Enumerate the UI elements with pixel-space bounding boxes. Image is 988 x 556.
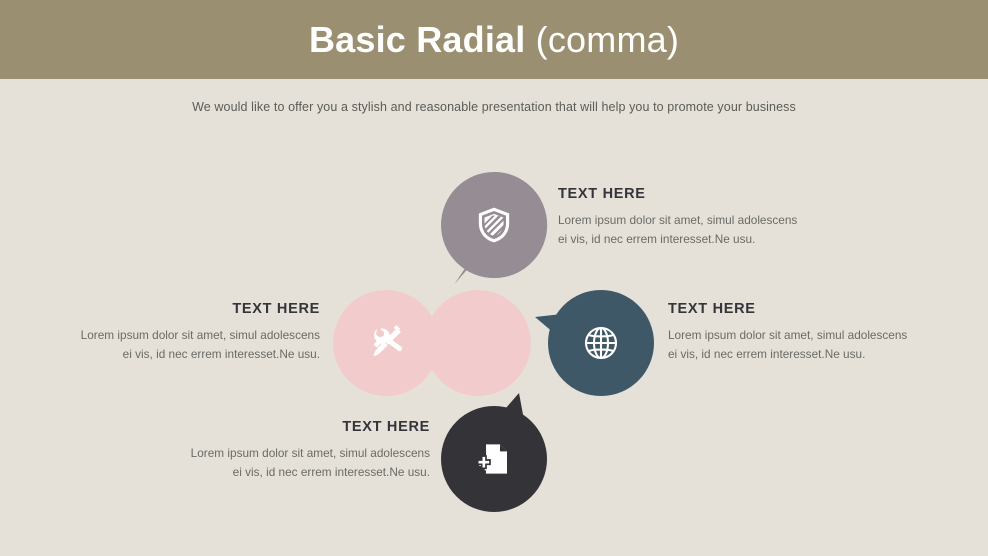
node-left-heading: TEXT HERE — [80, 301, 320, 317]
bubble-bottom[interactable] — [441, 406, 547, 512]
node-top-body: Lorem ipsum dolor sit amet, simul adoles… — [558, 211, 808, 249]
bubble-top[interactable] — [441, 172, 547, 278]
node-bottom-text: TEXT HERE Lorem ipsum dolor sit amet, si… — [190, 419, 430, 482]
node-right-text: TEXT HERE Lorem ipsum dolor sit amet, si… — [668, 301, 918, 364]
bubble-left[interactable] — [333, 290, 439, 396]
bubble-left-shape — [333, 290, 439, 396]
radial-diagram: TEXT HERE Lorem ipsum dolor sit amet, si… — [0, 0, 988, 556]
node-right-body: Lorem ipsum dolor sit amet, simul adoles… — [668, 326, 918, 364]
node-bottom-body: Lorem ipsum dolor sit amet, simul adoles… — [190, 444, 430, 482]
node-top-text: TEXT HERE Lorem ipsum dolor sit amet, si… — [558, 186, 808, 249]
node-left-body: Lorem ipsum dolor sit amet, simul adoles… — [80, 326, 320, 364]
bubble-right[interactable] — [548, 290, 654, 396]
node-left-text: TEXT HERE Lorem ipsum dolor sit amet, si… — [80, 301, 320, 364]
bubble-bottom-shape — [441, 406, 547, 512]
bubble-top-shape — [441, 172, 547, 278]
node-bottom-heading: TEXT HERE — [190, 419, 430, 435]
bubble-right-shape — [548, 290, 654, 396]
node-right-heading: TEXT HERE — [668, 301, 918, 317]
node-top-heading: TEXT HERE — [558, 186, 808, 202]
